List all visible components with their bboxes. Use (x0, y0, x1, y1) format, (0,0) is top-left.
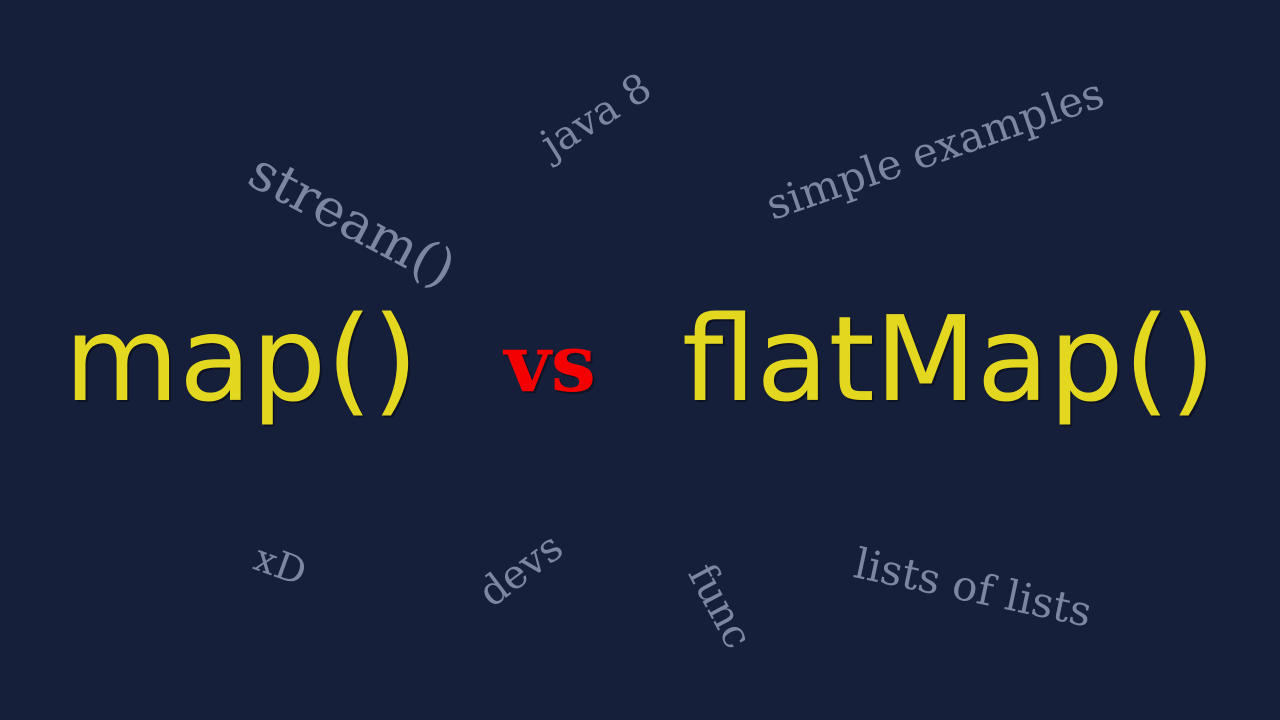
title-slide: stream()java 8simple examplesxDdevsfuncl… (0, 0, 1280, 720)
decorative-tag-java-8: java 8 (534, 67, 658, 165)
headline-row: map() vs flatMap() (0, 284, 1280, 434)
decorative-tag-devs: devs (472, 526, 570, 614)
headline-right-term: flatMap() (682, 300, 1216, 418)
decorative-tag-func: func (681, 558, 758, 655)
decorative-tag-stream: stream() (241, 145, 463, 296)
headline-left-term: map() (64, 300, 418, 418)
decorative-tag-simple-examples: simple examples (761, 72, 1109, 227)
headline-comparator: vs (504, 323, 596, 403)
decorative-tag-xd: xD (250, 538, 312, 591)
decorative-tag-lists-of-lists: lists of lists (851, 542, 1096, 633)
